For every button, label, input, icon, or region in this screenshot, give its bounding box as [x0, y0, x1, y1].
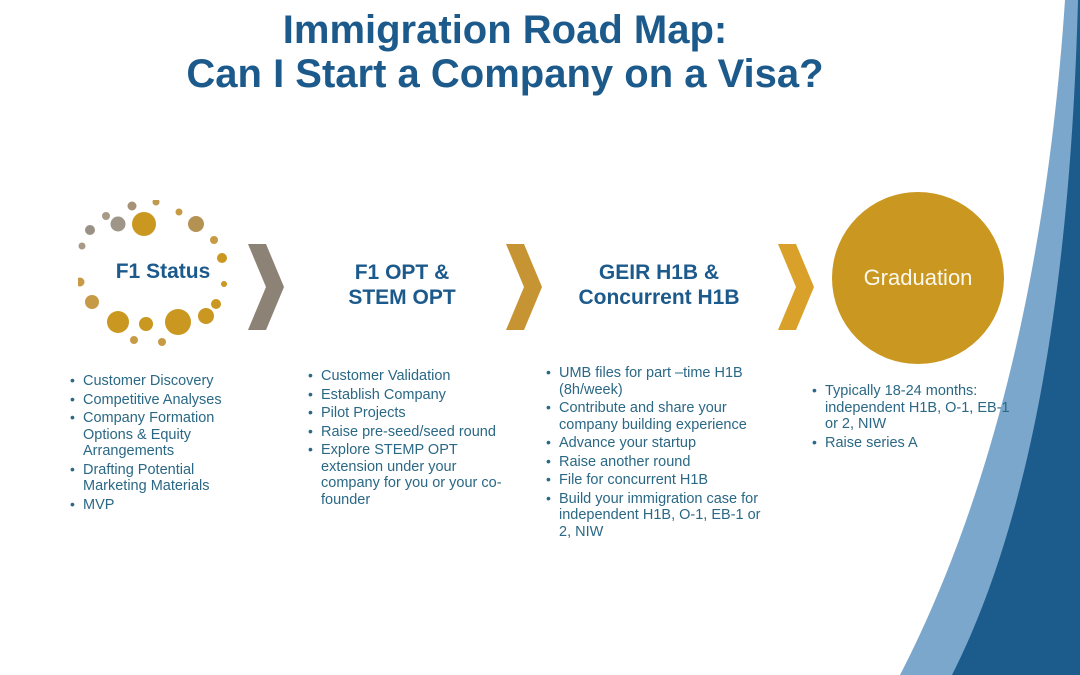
bullet-item: Company Formation Options & Equity Arran…: [70, 410, 260, 460]
process-stage-row: F1 Status F1 OPT & STEM OPT GEIR H1B & C…: [0, 192, 1010, 372]
bullet-item: Raise another round: [546, 454, 768, 471]
ring-dot-17: [165, 309, 191, 335]
slide-canvas: Immigration Road Map: Can I Start a Comp…: [0, 0, 1080, 675]
bullet-list-graduation: Typically 18-24 months: independent H1B,…: [812, 383, 1012, 453]
stage-geir-label-line-1: GEIR H1B &: [548, 260, 770, 285]
stage-f1-status[interactable]: F1 Status: [78, 200, 248, 350]
bullet-item: Build your immigration case for independ…: [546, 491, 768, 541]
bullet-list-f1-opt-stem-opt: Customer ValidationEstablish CompanyPilo…: [308, 368, 508, 510]
ring-dot-14: [211, 299, 221, 309]
bullet-list-f1-status: Customer DiscoveryCompetitive AnalysesCo…: [70, 373, 260, 515]
ring-dot-0: [128, 202, 137, 211]
title-line-2: Can I Start a Company on a Visa?: [0, 52, 1010, 96]
bullet-item: Raise series A: [812, 435, 1012, 452]
stage-f1-opt-label-line-2: STEM OPT: [304, 285, 500, 310]
bullet-item: File for concurrent H1B: [546, 472, 768, 489]
stage-geir-h1b[interactable]: GEIR H1B & Concurrent H1B: [548, 260, 770, 310]
ring-dot-6: [132, 212, 156, 236]
stage-graduation-label: Graduation: [864, 265, 973, 291]
bullet-item: Pilot Projects: [308, 405, 508, 422]
stage-geir-label-line-2: Concurrent H1B: [548, 285, 770, 310]
stage-f1-opt-label-line-1: F1 OPT &: [304, 260, 500, 285]
stage-f1-status-label: F1 Status: [78, 260, 248, 284]
chevron-right-icon-3: [776, 242, 816, 332]
ring-dot-8: [79, 243, 86, 250]
bullet-item: Competitive Analyses: [70, 392, 260, 409]
title-line-1: Immigration Road Map:: [0, 8, 1010, 52]
bullet-item: Customer Discovery: [70, 373, 260, 390]
bullet-item: Explore STEMP OPT extension under your c…: [308, 442, 508, 508]
ring-dot-1: [153, 200, 160, 206]
bullet-item: Typically 18-24 months: independent H1B,…: [812, 383, 1012, 433]
bullet-item: Advance your startup: [546, 435, 768, 452]
bullet-list-geir-h1b-concurrent-h1b: UMB files for part –time H1B (8h/week)Co…: [546, 365, 768, 542]
ring-dot-3: [176, 209, 183, 216]
ring-dot-5: [111, 217, 126, 232]
bullet-item: Drafting Potential Marketing Materials: [70, 462, 260, 495]
ring-dot-15: [107, 311, 129, 333]
chevron-right-icon-1: [246, 242, 286, 332]
ring-dot-19: [130, 336, 138, 344]
bullet-item: MVP: [70, 497, 260, 514]
ring-dot-13: [85, 295, 99, 309]
ring-dot-20: [158, 338, 166, 346]
slide-title: Immigration Road Map: Can I Start a Comp…: [0, 8, 1010, 96]
bullet-item: Raise pre-seed/seed round: [308, 424, 508, 441]
ring-dot-2: [102, 212, 110, 220]
bullet-item: Contribute and share your company buildi…: [546, 400, 768, 433]
ring-dot-4: [85, 225, 95, 235]
ring-dot-18: [198, 308, 214, 324]
bullet-item: UMB files for part –time H1B (8h/week): [546, 365, 768, 398]
ring-dot-7: [188, 216, 204, 232]
stage-f1-opt-stem-opt[interactable]: F1 OPT & STEM OPT: [304, 260, 500, 310]
bullet-item: Establish Company: [308, 387, 508, 404]
stage-graduation[interactable]: Graduation: [832, 192, 1004, 364]
bullet-item: Customer Validation: [308, 368, 508, 385]
chevron-right-icon-2: [504, 242, 544, 332]
ring-dot-16: [139, 317, 153, 331]
ring-dot-9: [210, 236, 218, 244]
